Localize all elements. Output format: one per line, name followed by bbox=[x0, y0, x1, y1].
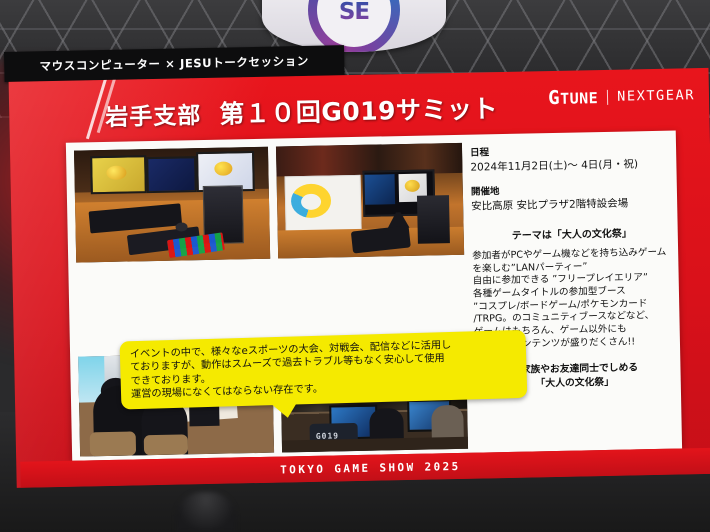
photo-pc-setup bbox=[74, 147, 270, 263]
footer-event-label: TOKYO GAME SHOW 2025 bbox=[280, 459, 461, 476]
callout-tail bbox=[271, 403, 296, 418]
slide-body: 岩手支部 第１０回G019サミット GTUNE NEXTGEAR bbox=[9, 68, 710, 488]
schedule-value: 2024年11月2日(土)〜 4日(月・祝) bbox=[470, 156, 670, 175]
content-sheet: G019 日程 2024年11月2日(土)〜 4日(月・祝) 開催地 安比高原 … bbox=[66, 131, 682, 461]
title-main-label: 第１０回G019サミット bbox=[219, 89, 498, 131]
title-branch-label: 岩手支部 bbox=[105, 96, 202, 132]
floor bbox=[282, 437, 468, 453]
gtune-logo: GTUNE bbox=[548, 86, 599, 109]
venue-value: 安比高原 安比プラザ2階特設会場 bbox=[471, 195, 671, 214]
brand-logos: GTUNE NEXTGEAR bbox=[548, 84, 695, 109]
slide-title: 岩手支部 第１０回G019サミット bbox=[105, 81, 576, 140]
gse-logo-text: SE bbox=[339, 0, 369, 25]
monitor-center bbox=[146, 156, 197, 193]
testimonial-callout: イベントの中で、様々なeスポーツの大会、対戦会、配信などに活用し ておりますが、… bbox=[120, 330, 528, 410]
presentation-slide: マウスコンピューター × JESUトークセッション 岩手支部 第１０回G019サ… bbox=[4, 38, 710, 488]
silhouette-attendee bbox=[176, 492, 236, 532]
brand-divider bbox=[607, 89, 608, 104]
pc-tower bbox=[417, 195, 450, 244]
theme-heading: テーマは「大人の文化祭」 bbox=[472, 224, 672, 243]
monitor-left-pane bbox=[365, 174, 396, 205]
nextgear-logo: NEXTGEAR bbox=[617, 87, 695, 105]
chair-one bbox=[90, 431, 136, 456]
gtune-lead-letter: G bbox=[548, 87, 560, 109]
gtune-rest-letters: TUNE bbox=[560, 89, 598, 108]
photo-monitors bbox=[276, 143, 464, 259]
speaker-session-label: マウスコンピューター × JESUトークセッション bbox=[39, 53, 309, 74]
chair-two bbox=[144, 434, 188, 455]
